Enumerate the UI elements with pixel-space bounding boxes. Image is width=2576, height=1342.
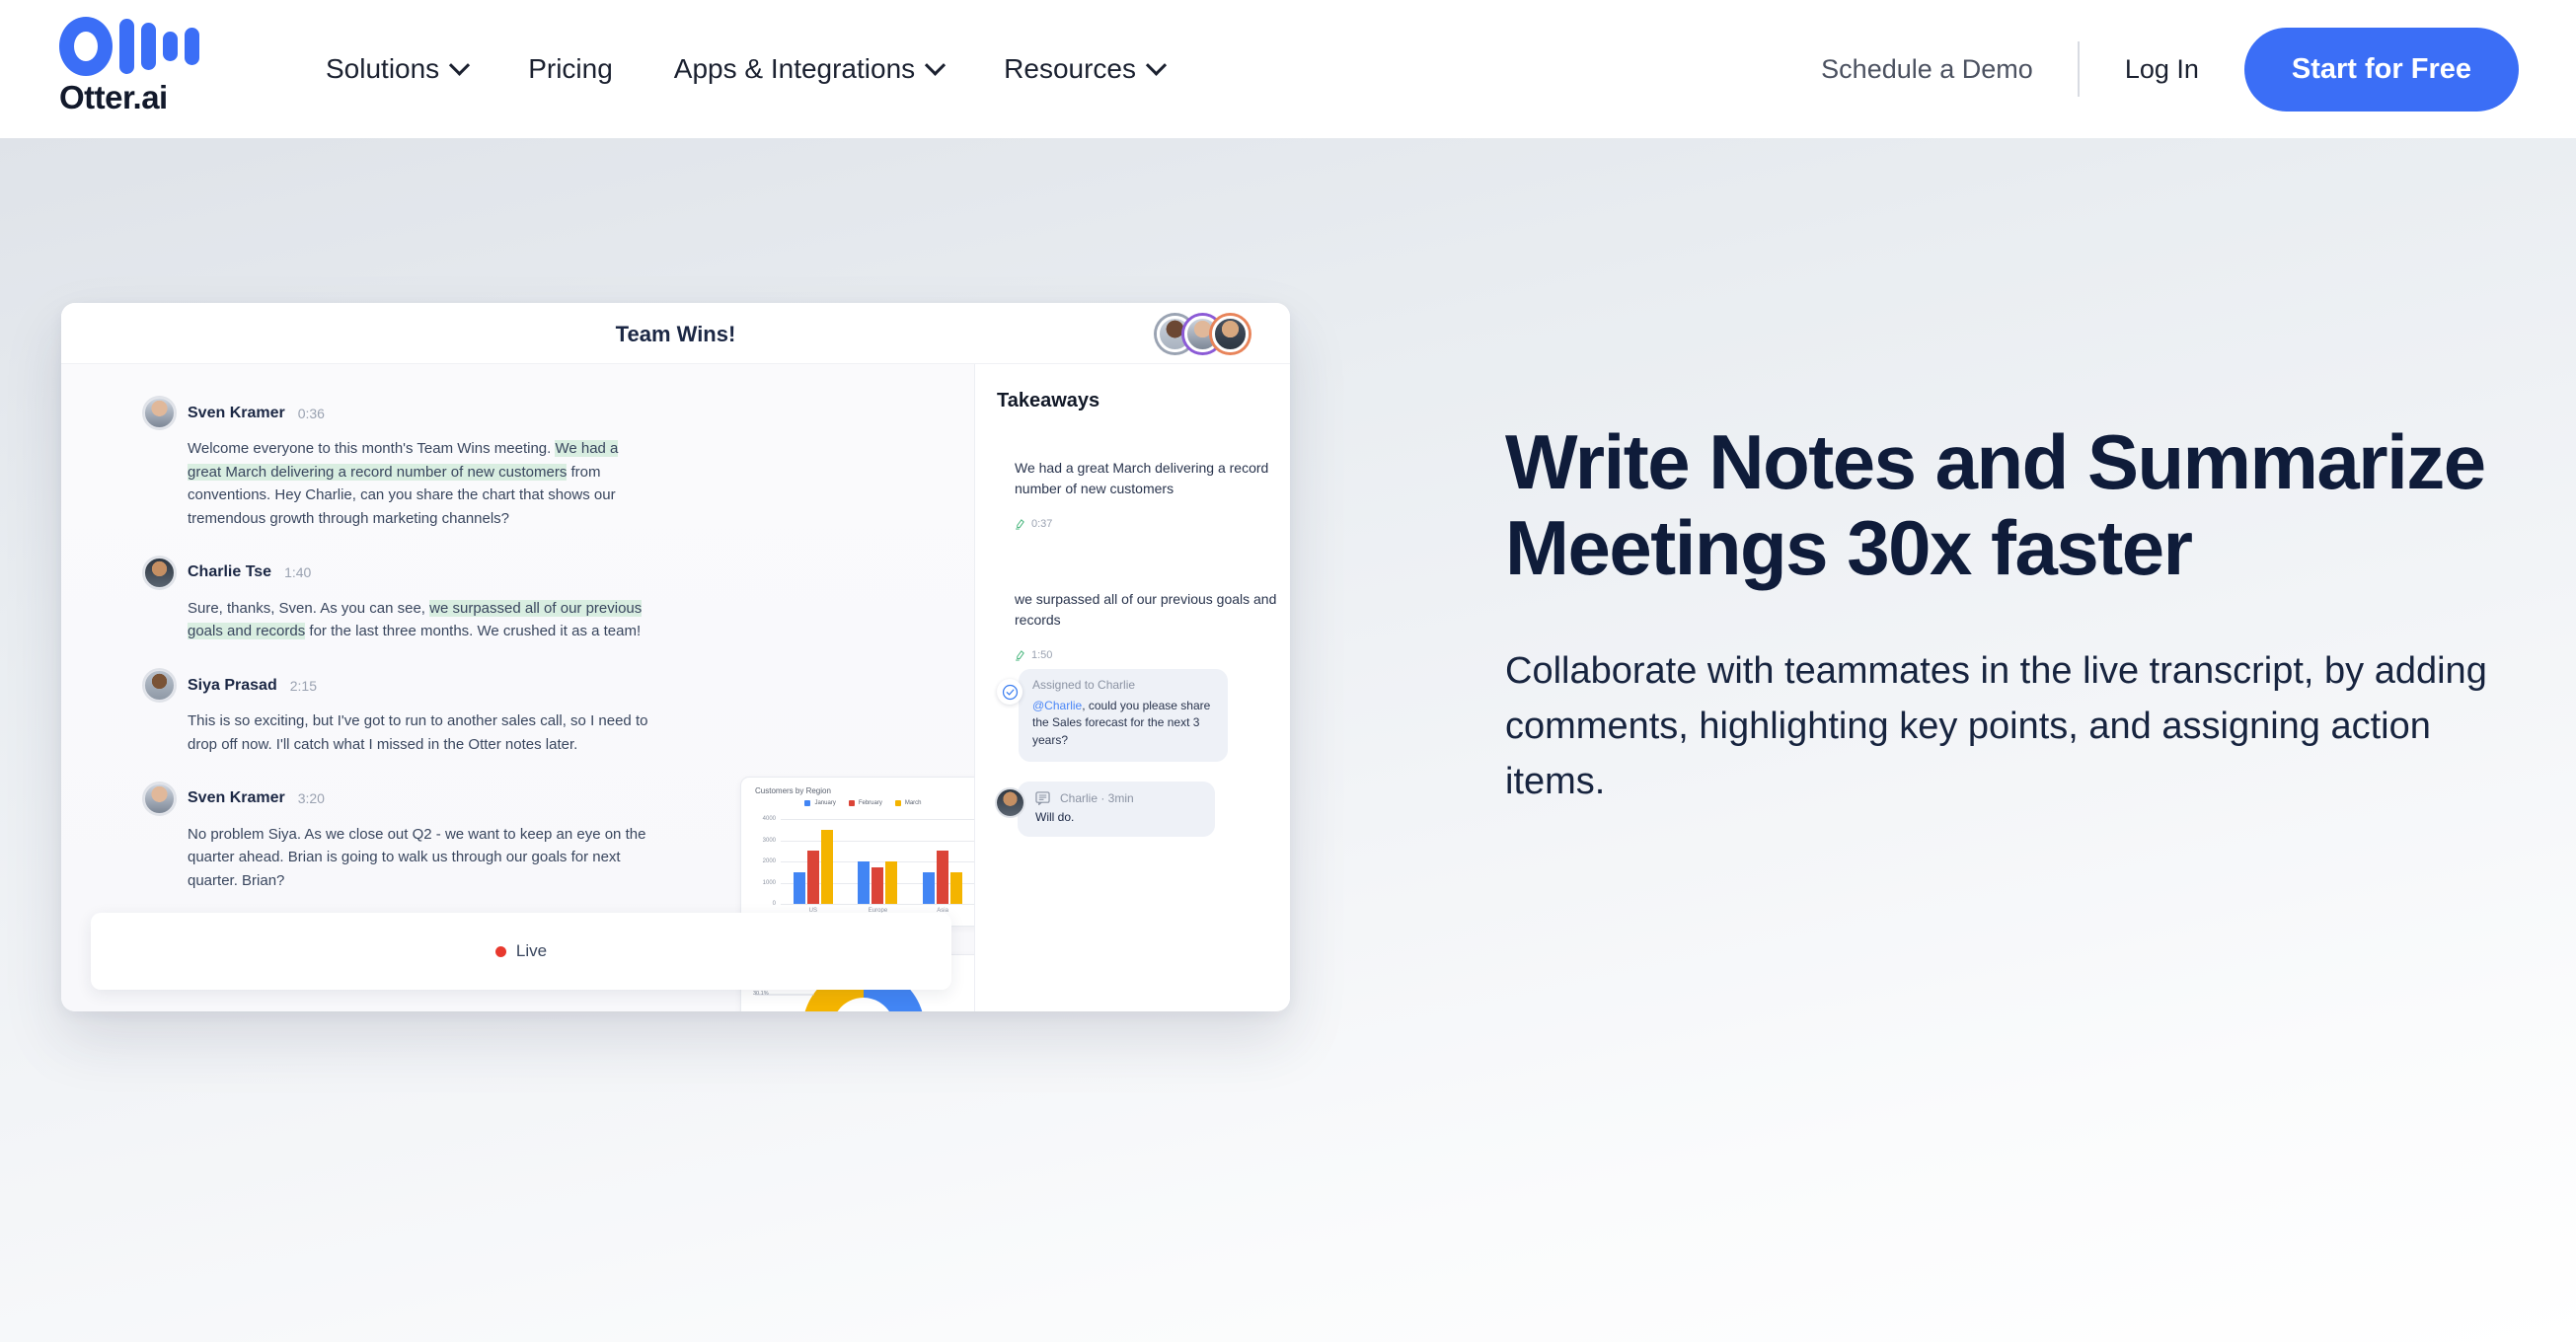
otter-waveform-logo-icon xyxy=(59,16,237,77)
bar-plot-area: 4000 3000 2000 1000 0 US xyxy=(781,819,975,904)
spacer xyxy=(997,538,1290,589)
transcript-entry[interactable]: Siya Prasad 2:15 This is so exciting, bu… xyxy=(188,670,651,756)
login-link[interactable]: Log In xyxy=(2080,54,2244,85)
bar-february xyxy=(937,851,948,904)
otter-logo[interactable]: Otter.ai xyxy=(59,16,237,116)
takeaway-timestamp[interactable]: 0:37 xyxy=(1031,518,1052,530)
speaker-avatar xyxy=(144,398,175,428)
meeting-title: Team Wins! xyxy=(61,322,1290,347)
schedule-demo-link[interactable]: Schedule a Demo xyxy=(1821,54,2078,85)
nav-links: Solutions Pricing Apps & Integrations Re… xyxy=(326,0,1164,138)
logo-text: Otter.ai xyxy=(59,79,237,116)
transcript-entries: Sven Kramer 0:36 Welcome everyone to thi… xyxy=(188,398,651,920)
transcript-text: Sure, thanks, Sven. As you can see, we s… xyxy=(188,597,651,643)
nav-label: Resources xyxy=(1004,53,1136,85)
takeaway-item[interactable]: we surpassed all of our previous goals a… xyxy=(997,589,1290,661)
takeaway-timestamp[interactable]: 1:50 xyxy=(1031,649,1052,661)
nav-label: Apps & Integrations xyxy=(674,53,915,85)
bar-chart-card[interactable]: Customers by Region January February Mar… xyxy=(740,777,986,927)
timestamp[interactable]: 2:15 xyxy=(290,678,317,694)
assignment-text: @Charlie, could you please share the Sal… xyxy=(1032,698,1214,749)
transcript-text: No problem Siya. As we close out Q2 - we… xyxy=(188,823,651,893)
takeaways-title: Takeaways xyxy=(997,390,1290,412)
y-tick: 1000 xyxy=(763,880,776,886)
check-circle-icon[interactable] xyxy=(997,679,1023,705)
transcript-entry[interactable]: Charlie Tse 1:40 Sure, thanks, Sven. As … xyxy=(188,558,651,643)
assignment-header: Assigned to Charlie xyxy=(1032,678,1214,692)
takeaways-panel: Takeaways We had a great March deliverin… xyxy=(974,364,1290,1011)
legend-item-march: March xyxy=(895,800,922,806)
nav-item-apps-integrations[interactable]: Apps & Integrations xyxy=(674,53,943,85)
timestamp[interactable]: 3:20 xyxy=(298,790,325,806)
bar-january xyxy=(858,861,870,904)
bar-march xyxy=(950,872,962,904)
hero-subcopy: Collaborate with teammates in the live t… xyxy=(1505,643,2527,810)
nav-actions: Schedule a Demo Log In Start for Free xyxy=(1821,0,2519,138)
speaker-avatar xyxy=(144,783,175,814)
bar-march xyxy=(885,861,897,904)
nav-item-pricing[interactable]: Pricing xyxy=(528,53,613,85)
timestamp[interactable]: 0:36 xyxy=(298,406,325,421)
nav-label: Solutions xyxy=(326,53,439,85)
reply-meta: Charlie · 3min xyxy=(1060,791,1134,805)
bar-group-us: US xyxy=(794,819,833,904)
assignment-card[interactable]: Assigned to Charlie @Charlie, could you … xyxy=(997,669,1290,762)
transcript-entry[interactable]: Sven Kramer 3:20 No problem Siya. As we … xyxy=(188,783,651,893)
bar-group-europe: Europe xyxy=(858,819,897,904)
y-tick: 3000 xyxy=(763,838,776,844)
mention-charlie[interactable]: @Charlie xyxy=(1032,699,1082,712)
speaker-avatar xyxy=(144,558,175,588)
nav-label: Pricing xyxy=(528,53,613,85)
top-navigation: Otter.ai Solutions Pricing Apps & Integr… xyxy=(0,0,2576,138)
bar-january xyxy=(794,872,805,904)
speaker-name: Charlie Tse xyxy=(188,563,271,581)
avatar-charlie[interactable] xyxy=(1212,316,1249,352)
takeaway-item[interactable]: We had a great March delivering a record… xyxy=(997,458,1290,530)
speaker-avatar xyxy=(144,670,175,701)
timestamp[interactable]: 1:40 xyxy=(284,564,311,580)
highlighter-icon xyxy=(1015,649,1025,661)
reply-avatar xyxy=(997,789,1023,816)
app-header: Team Wins! xyxy=(61,303,1290,364)
app-mockup-card: Team Wins! Sven Kramer 0:36 Welcome ever… xyxy=(61,303,1290,1011)
reply-card[interactable]: Charlie · 3min Will do. xyxy=(997,782,1290,837)
bar-march xyxy=(821,830,833,904)
y-tick: 2000 xyxy=(763,858,776,864)
transcript-text: Welcome everyone to this month's Team Wi… xyxy=(188,437,651,531)
transcript-text: This is so exciting, but I've got to run… xyxy=(188,709,651,756)
chevron-down-icon xyxy=(1146,54,1167,75)
legend-item-february: February xyxy=(849,800,882,806)
bar-january xyxy=(923,872,935,904)
legend-item-january: January xyxy=(804,800,835,806)
speaker-name: Siya Prasad xyxy=(188,677,277,695)
speaker-name: Sven Kramer xyxy=(188,405,285,422)
hero-copy: Write Notes and Summarize Meetings 30x f… xyxy=(1505,419,2527,809)
takeaway-text: We had a great March delivering a record… xyxy=(1015,458,1290,499)
chart-legend: January February March xyxy=(741,800,985,806)
bar-february xyxy=(807,851,819,904)
page-title: Write Notes and Summarize Meetings 30x f… xyxy=(1505,419,2527,592)
live-status-bar[interactable]: Live xyxy=(91,913,951,990)
transcript-entry[interactable]: Sven Kramer 0:36 Welcome everyone to thi… xyxy=(188,398,651,531)
chart-title: Customers by Region xyxy=(755,786,831,795)
y-tick: 0 xyxy=(773,901,776,907)
highlighter-icon xyxy=(1015,518,1025,530)
nav-item-resources[interactable]: Resources xyxy=(1004,53,1164,85)
comment-icon xyxy=(1035,791,1050,805)
speaker-name: Sven Kramer xyxy=(188,789,285,807)
nav-item-solutions[interactable]: Solutions xyxy=(326,53,467,85)
start-for-free-button[interactable]: Start for Free xyxy=(2244,28,2519,112)
chevron-down-icon xyxy=(449,54,470,75)
bar-group-asia: Asia xyxy=(923,819,962,904)
bar-groups: US Europe Asia xyxy=(781,819,975,904)
live-label: Live xyxy=(516,941,547,961)
takeaway-text: we surpassed all of our previous goals a… xyxy=(1015,589,1290,631)
chevron-down-icon xyxy=(925,54,946,75)
y-tick: 4000 xyxy=(763,816,776,822)
reply-text: Will do. xyxy=(1035,810,1199,824)
live-dot-icon xyxy=(495,946,506,957)
participant-avatars xyxy=(1166,316,1249,352)
bar-february xyxy=(871,867,883,904)
